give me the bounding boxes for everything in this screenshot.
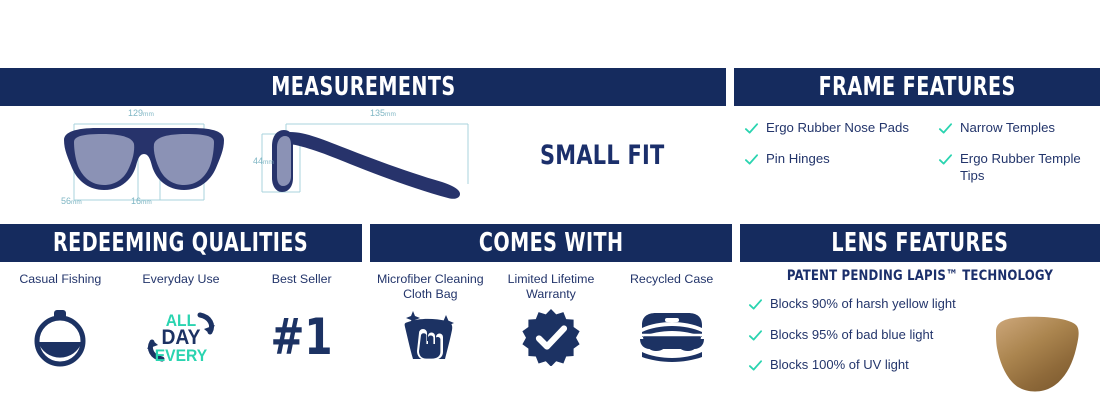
lens-features-header: LENS FEATURES bbox=[740, 224, 1100, 262]
frame-feature-item: Ergo Rubber Temple Tips bbox=[938, 151, 1088, 185]
spec-infographic: MEASUREMENTS bbox=[0, 0, 1100, 407]
lens-feature-item: Blocks 90% of harsh yellow light bbox=[748, 296, 995, 313]
check-icon bbox=[748, 297, 763, 312]
lens-technology-subtitle: PATENT PENDING LAPIS™ TECHNOLOGY bbox=[758, 268, 1082, 284]
fit-label: SMALL FIT bbox=[540, 140, 665, 171]
panel-frame-features: FRAME FEATURES Ergo Rubber Nose Pads Nar… bbox=[734, 68, 1100, 212]
comes-with-item-cloth-bag: Microfiber Cleaning Cloth Bag bbox=[370, 272, 491, 370]
check-icon bbox=[938, 152, 953, 167]
check-icon bbox=[744, 152, 759, 167]
frame-features-title: FRAME FEATURES bbox=[818, 72, 1015, 102]
quality-item-best-seller: Best Seller #1 bbox=[241, 272, 362, 370]
lens-feature-item: Blocks 95% of bad blue light bbox=[748, 327, 995, 344]
check-icon bbox=[744, 121, 759, 136]
check-icon bbox=[748, 358, 763, 373]
dim-bridge-width: 16mm bbox=[131, 196, 152, 206]
dim-lens-width: 56mm bbox=[61, 196, 82, 206]
frame-features-header: FRAME FEATURES bbox=[734, 68, 1100, 106]
dim-temple-length: 135mm bbox=[370, 108, 396, 118]
comes-with-body: Microfiber Cleaning Cloth Bag Limited Li… bbox=[370, 262, 732, 407]
panel-comes-with: COMES WITH Microfiber Cleaning Cloth Bag bbox=[370, 224, 732, 407]
comes-with-item-warranty: Limited Lifetime Warranty bbox=[491, 272, 612, 370]
lens-feature-item: Blocks 100% of UV light bbox=[748, 357, 995, 374]
check-icon bbox=[938, 121, 953, 136]
frame-feature-item: Ergo Rubber Nose Pads bbox=[744, 120, 934, 137]
comes-with-caption: Limited Lifetime Warranty bbox=[491, 272, 612, 302]
dim-lens-height: 44mm bbox=[253, 156, 274, 166]
frame-feature-label: Pin Hinges bbox=[766, 151, 830, 168]
panel-measurements: MEASUREMENTS bbox=[0, 68, 726, 212]
panel-redeeming-qualities: REDEEMING QUALITIES Casual Fishing Every… bbox=[0, 224, 362, 407]
comes-with-title: COMES WITH bbox=[479, 228, 624, 258]
lens-feature-label: Blocks 100% of UV light bbox=[770, 357, 909, 374]
measurements-body: 129mm 56mm 16mm bbox=[0, 106, 726, 212]
quality-item-everyday-use: Everyday Use ALL DAY EVERY bbox=[121, 272, 242, 370]
redeeming-qualities-body: Casual Fishing Everyday Use bbox=[0, 262, 362, 407]
redeeming-qualities-header: REDEEMING QUALITIES bbox=[0, 224, 362, 262]
sunglasses-front-view-icon bbox=[52, 106, 272, 212]
quality-item-casual-fishing: Casual Fishing bbox=[0, 272, 121, 370]
dim-front-width: 129mm bbox=[128, 108, 154, 118]
check-icon bbox=[748, 328, 763, 343]
comes-with-caption: Recycled Case bbox=[630, 272, 713, 302]
measurements-header: MEASUREMENTS bbox=[0, 68, 726, 106]
lens-feature-label: Blocks 90% of harsh yellow light bbox=[770, 296, 956, 313]
lens-features-body: PATENT PENDING LAPIS™ TECHNOLOGY Blocks … bbox=[740, 262, 1100, 407]
quality-caption: Casual Fishing bbox=[19, 272, 101, 302]
fishing-bobber-icon bbox=[30, 306, 90, 368]
quality-caption: Everyday Use bbox=[142, 272, 219, 302]
comes-with-item-recycled-case: Recycled Case bbox=[611, 272, 732, 370]
redeeming-qualities-title: REDEEMING QUALITIES bbox=[53, 228, 308, 258]
lens-feature-label: Blocks 95% of bad blue light bbox=[770, 327, 933, 344]
comes-with-header: COMES WITH bbox=[370, 224, 732, 262]
warranty-badge-icon bbox=[522, 308, 580, 366]
panel-lens-features: LENS FEATURES PATENT PENDING LAPIS™ TECH… bbox=[740, 224, 1100, 407]
svg-text:EVERY: EVERY bbox=[155, 346, 208, 365]
frame-feature-item: Narrow Temples bbox=[938, 120, 1088, 137]
number-one-icon: #1 bbox=[271, 312, 333, 362]
frame-feature-label: Ergo Rubber Nose Pads bbox=[766, 120, 909, 137]
frame-feature-label: Narrow Temples bbox=[960, 120, 1055, 137]
sunglasses-side-view-icon bbox=[246, 106, 486, 212]
measurements-title: MEASUREMENTS bbox=[271, 72, 455, 102]
comes-with-caption: Microfiber Cleaning Cloth Bag bbox=[370, 272, 491, 302]
all-day-every-icon: ALL DAY EVERY bbox=[138, 305, 224, 369]
frame-features-body: Ergo Rubber Nose Pads Narrow Temples Pin… bbox=[734, 106, 1100, 212]
frame-feature-label: Ergo Rubber Temple Tips bbox=[960, 151, 1088, 185]
bronze-lens-swatch bbox=[990, 314, 1082, 396]
sunglasses-case-icon bbox=[634, 311, 710, 363]
frame-feature-item: Pin Hinges bbox=[744, 151, 934, 185]
lens-feature-list: Blocks 90% of harsh yellow light Blocks … bbox=[740, 296, 995, 374]
cleaning-cloth-icon bbox=[399, 309, 461, 365]
quality-caption: Best Seller bbox=[272, 272, 332, 302]
lens-features-title: LENS FEATURES bbox=[832, 228, 1009, 258]
